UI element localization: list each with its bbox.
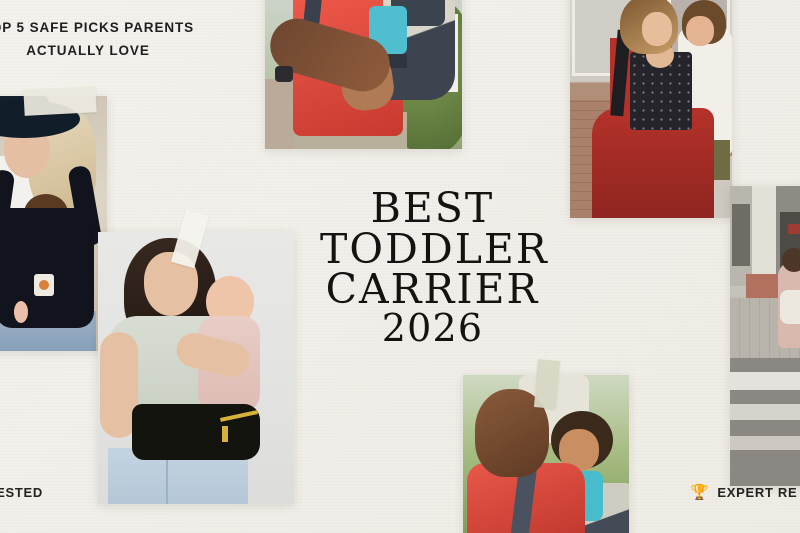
photo-shop-sign: [788, 224, 800, 234]
badge-right-label: EXPERT RE: [717, 485, 797, 500]
photo-zipper-pull: [222, 426, 228, 442]
photo-wristwatch: [275, 66, 293, 82]
page-title: BEST TODDLER CARRIER 2026: [320, 188, 545, 347]
photo-doorway: [732, 204, 750, 266]
title-line-2: TODDLER: [320, 229, 545, 270]
photo-dad-red-shirt-toddler-backpack: [265, 0, 462, 149]
photo-baby-foot: [14, 301, 28, 323]
photo-carrier-logo: [34, 274, 54, 296]
kicker-headline: TOP 5 SAFE PICKS PARENTS ACTUALLY LOVE: [0, 16, 198, 62]
badge-expert-reviewed: 🏆 EXPERT RE: [690, 485, 797, 500]
photo-crosswalk-stripe: [730, 436, 800, 450]
kicker-line-1: TOP 5 SAFE PICKS PARENTS: [0, 20, 194, 35]
photo-adult-face: [642, 12, 672, 46]
washi-tape-photo-5: [534, 359, 560, 409]
photo-baby-wrap: [780, 290, 800, 324]
photo-jeans-seam: [166, 454, 168, 504]
photo-woman-baby-hip-seat: [98, 232, 294, 504]
photo-toddler-face: [686, 16, 714, 46]
title-line-4: 2026: [320, 310, 545, 348]
title-line-1: BEST: [320, 188, 545, 229]
title-line-3: CARRIER: [320, 269, 545, 310]
badge-left-label: Y TESTED: [0, 485, 43, 500]
trophy-icon: 🏆: [690, 485, 709, 500]
washi-tape-photo-1: [23, 86, 96, 116]
photo-bench: [746, 274, 780, 298]
photo-street-crosswalk: [730, 186, 800, 486]
photo-woman-hat-baby-black-carrier: [0, 96, 107, 351]
kicker-line-2: ACTUALLY LOVE: [26, 43, 149, 58]
photo-crosswalk-stripe: [730, 404, 800, 420]
photo-mom-red-dress-baby-starry-carrier: [570, 0, 732, 218]
poster-canvas: TOP 5 SAFE PICKS PARENTS ACTUALLY LOVE: [0, 0, 800, 533]
photo-pedestrian-head: [782, 248, 800, 272]
badge-family-tested: Y TESTED: [0, 485, 43, 500]
photo-crosswalk-stripe: [730, 372, 800, 390]
